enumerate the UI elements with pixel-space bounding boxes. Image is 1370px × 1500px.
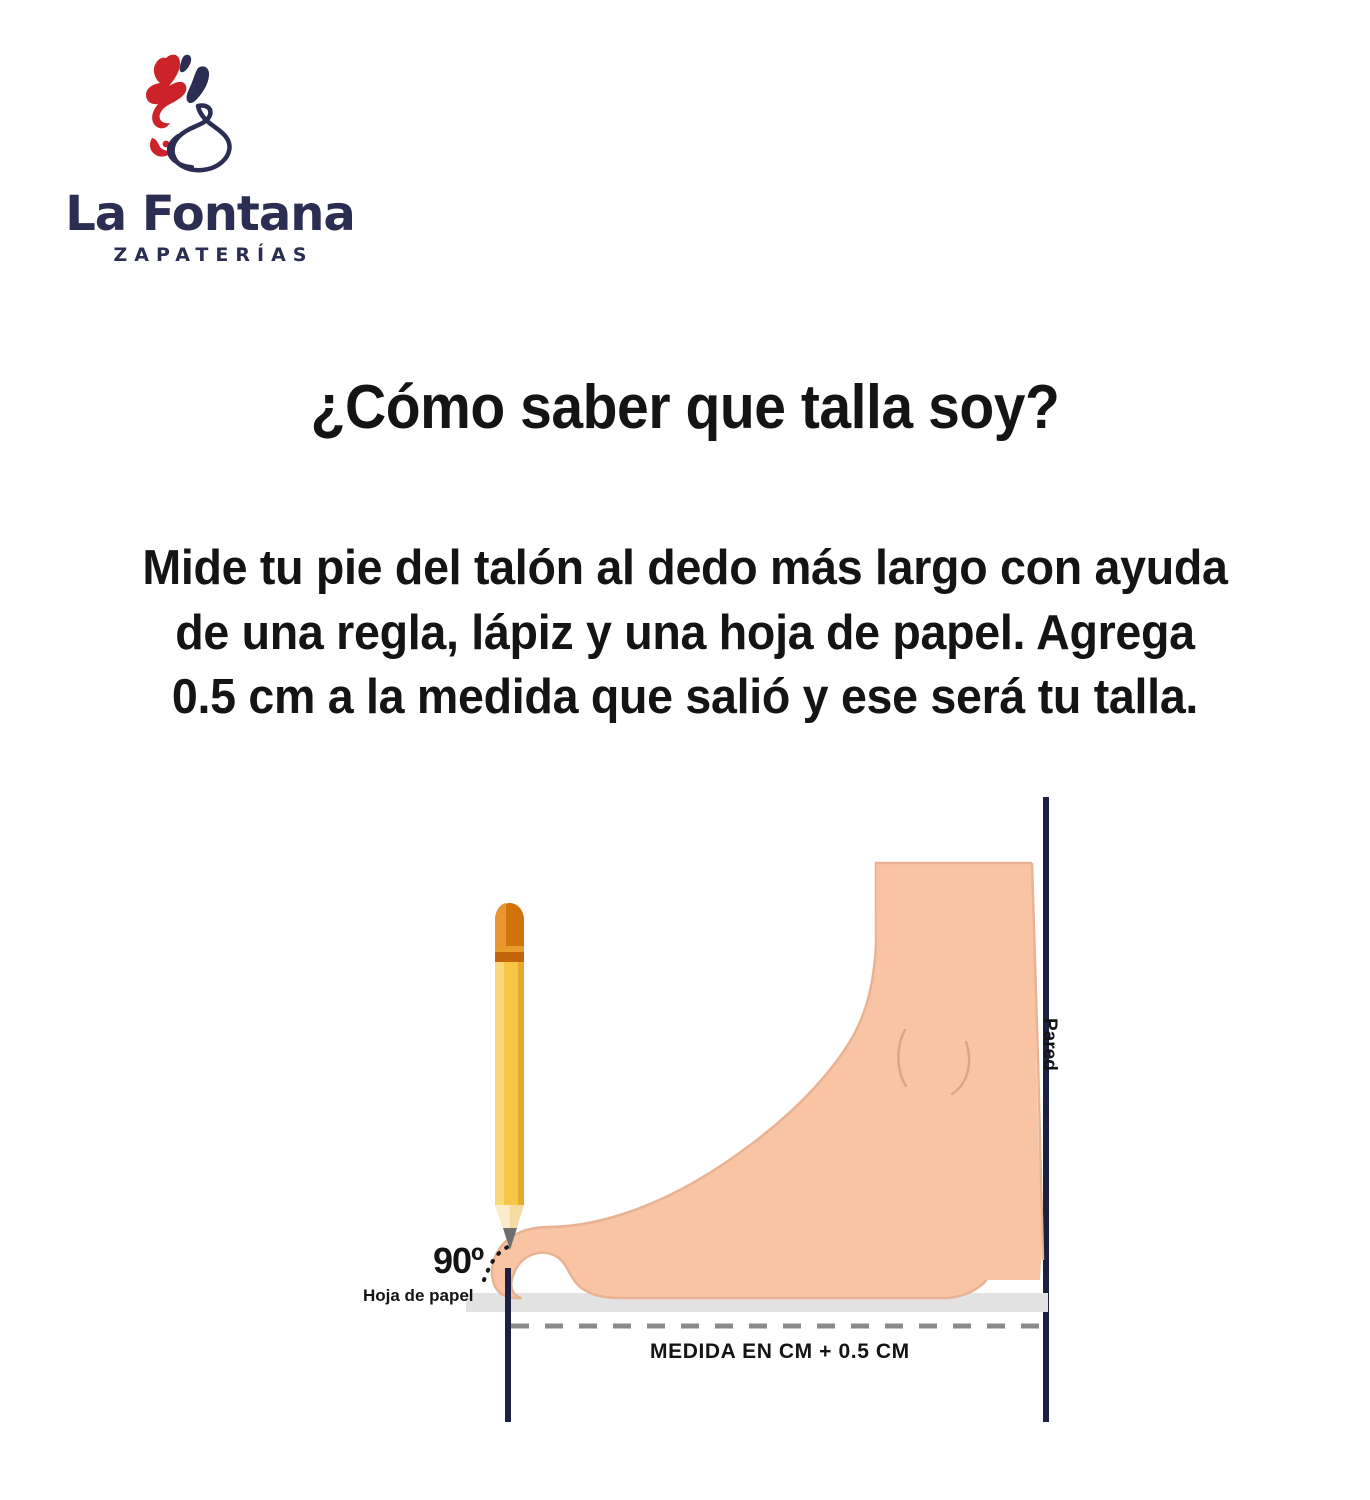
brand-tagline: ZAPATERÍAS <box>60 246 360 265</box>
pencil-icon <box>495 903 524 1250</box>
paper-label: Hoja de papel <box>363 1286 474 1306</box>
foot-side-view-icon <box>492 863 1043 1298</box>
wall-label: Pared <box>1038 1018 1060 1071</box>
shoe-splash-logo-icon <box>122 50 252 190</box>
instructions-line: 0.5 cm a la medida que salió y ese será … <box>125 665 1246 730</box>
brand-logo: La Fontana ZAPATERÍAS <box>60 50 360 280</box>
page-title: ¿Cómo saber que talla soy? <box>55 372 1315 443</box>
instructions-line: Mide tu pie del talón al dedo más largo … <box>125 536 1246 601</box>
brand-name: La Fontana <box>60 190 360 238</box>
instructions-line: de una regla, lápiz y una hoja de papel.… <box>125 601 1246 666</box>
measure-start-line-icon <box>505 1268 511 1422</box>
brand-wordmark: La Fontana ZAPATERÍAS <box>60 190 360 265</box>
instructions-paragraph: Mide tu pie del talón al dedo más largo … <box>95 536 1275 730</box>
angle-label: 90º <box>433 1240 483 1282</box>
measure-label: MEDIDA EN CM + 0.5 CM <box>650 1340 910 1364</box>
wall-line-icon <box>1043 797 1049 1422</box>
